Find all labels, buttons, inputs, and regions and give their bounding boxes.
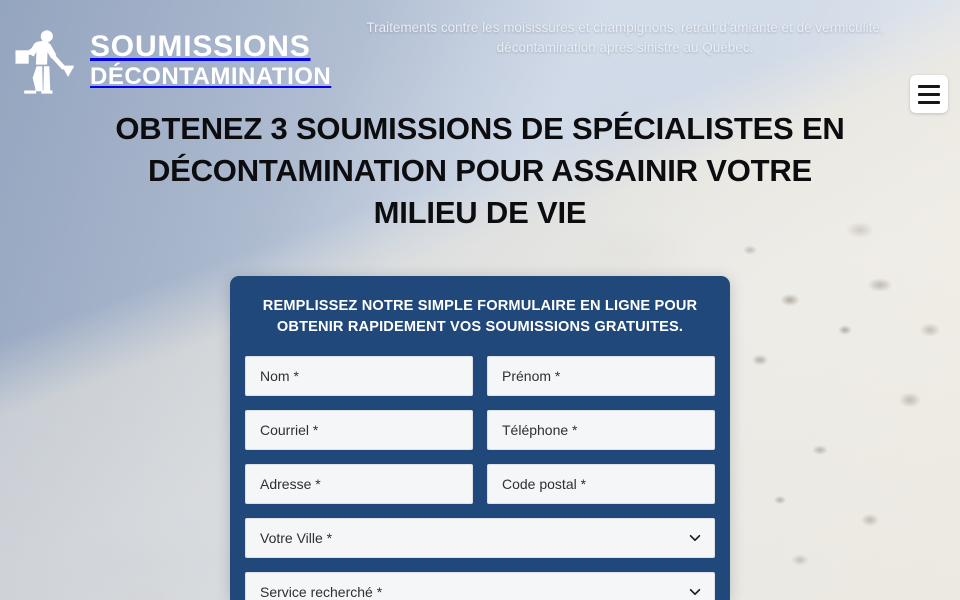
- courriel-field[interactable]: Courriel *: [245, 410, 473, 450]
- nom-field-placeholder: Nom *: [260, 368, 299, 384]
- chevron-down-icon: [689, 586, 701, 598]
- hamburger-bar-3: [918, 101, 940, 104]
- hero-section: OBTENEZ 3 SOUMISSIONS DE SPÉCIALISTES EN…: [0, 108, 960, 234]
- ville-select-placeholder: Votre Ville *: [260, 530, 332, 546]
- worker-sprayer-logo-icon: [12, 26, 78, 94]
- service-select[interactable]: Service recherché *: [245, 572, 715, 600]
- code-postal-field-placeholder: Code postal *: [502, 476, 586, 492]
- page-title: OBTENEZ 3 SOUMISSIONS DE SPÉCIALISTES EN…: [100, 108, 860, 234]
- quote-form-panel: REMPLISSEZ NOTRE SIMPLE FORMULAIRE EN LI…: [230, 276, 730, 600]
- form-row-address: Adresse * Code postal *: [245, 464, 715, 504]
- courriel-field-placeholder: Courriel *: [260, 422, 318, 438]
- nom-field[interactable]: Nom *: [245, 356, 473, 396]
- header-tagline: Traitements contre les moisissures et ch…: [330, 18, 920, 57]
- hamburger-bar-1: [918, 85, 940, 88]
- site-header: SOUMISSIONS DÉCONTAMINATION Traitements …: [0, 0, 960, 112]
- hamburger-menu-button[interactable]: [910, 75, 948, 113]
- logo-wordmark: SOUMISSIONS DÉCONTAMINATION: [90, 32, 331, 89]
- form-row-contact: Courriel * Téléphone *: [245, 410, 715, 450]
- telephone-field[interactable]: Téléphone *: [487, 410, 715, 450]
- prenom-field-placeholder: Prénom *: [502, 368, 560, 384]
- site-logo[interactable]: SOUMISSIONS DÉCONTAMINATION: [12, 26, 331, 94]
- adresse-field[interactable]: Adresse *: [245, 464, 473, 504]
- landing-page: SOUMISSIONS DÉCONTAMINATION Traitements …: [0, 0, 960, 600]
- form-row-service: Service recherché *: [245, 572, 715, 600]
- form-row-ville: Votre Ville *: [245, 518, 715, 558]
- prenom-field[interactable]: Prénom *: [487, 356, 715, 396]
- adresse-field-placeholder: Adresse *: [260, 476, 321, 492]
- code-postal-field[interactable]: Code postal *: [487, 464, 715, 504]
- logo-line-1: SOUMISSIONS: [90, 32, 331, 62]
- service-select-placeholder: Service recherché *: [260, 584, 382, 600]
- form-row-name: Nom * Prénom *: [245, 356, 715, 396]
- telephone-field-placeholder: Téléphone *: [502, 422, 578, 438]
- logo-line-2: DÉCONTAMINATION: [90, 65, 331, 89]
- hamburger-bar-2: [918, 93, 940, 96]
- chevron-down-icon: [689, 532, 701, 544]
- form-title: REMPLISSEZ NOTRE SIMPLE FORMULAIRE EN LI…: [245, 296, 715, 337]
- ville-select[interactable]: Votre Ville *: [245, 518, 715, 558]
